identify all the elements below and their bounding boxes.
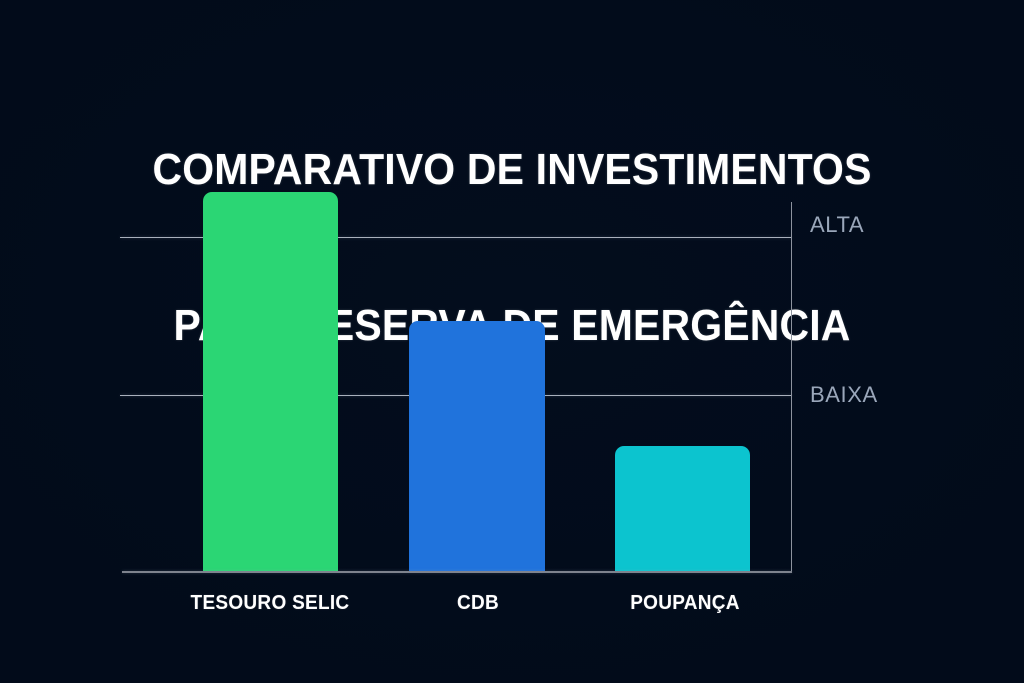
x-axis-label-tesouro-selic: TESOURO SELIC	[156, 592, 384, 615]
bar-cdb[interactable]	[409, 321, 545, 573]
x-axis-line	[122, 571, 792, 573]
bar-tesouro-selic[interactable]	[203, 192, 338, 573]
y-axis-line	[791, 202, 792, 573]
y-axis-label-baixa: BAIXA	[810, 382, 878, 408]
bar-poupanca[interactable]	[615, 446, 750, 573]
x-axis-label-poupanca: POUPANÇA	[571, 592, 799, 615]
plot-area	[120, 180, 792, 573]
chart-canvas: COMPARATIVO DE INVESTIMENTOS PARA RESERV…	[0, 0, 1024, 683]
y-axis-label-alta: ALTA	[810, 212, 864, 238]
x-axis-label-cdb: CDB	[364, 592, 592, 615]
